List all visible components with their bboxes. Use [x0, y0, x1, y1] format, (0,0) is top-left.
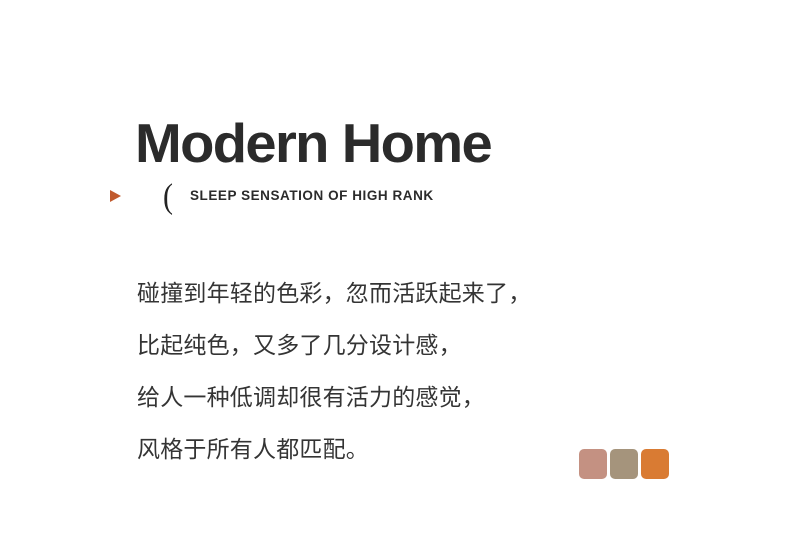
poster-canvas: Modern Home ( SLEEP SENSATION OF HIGH RA…: [0, 0, 790, 545]
body-line: 给人一种低调却很有活力的感觉，: [137, 372, 557, 424]
color-swatch[interactable]: [641, 449, 669, 479]
color-swatch[interactable]: [610, 449, 638, 479]
body-line: 碰撞到年轻的色彩，忽而活跃起来了，: [137, 268, 557, 320]
body-line: 风格于所有人都匹配。: [137, 424, 557, 476]
color-swatch[interactable]: [579, 449, 607, 479]
body-line: 比起纯色，又多了几分设计感，: [137, 320, 557, 372]
eyebrow-row: ( SLEEP SENSATION OF HIGH RANK: [110, 183, 434, 209]
open-paren-glyph: (: [163, 182, 173, 212]
color-swatch-group: [579, 449, 669, 479]
page-title: Modern Home: [135, 112, 491, 174]
subtitle-label: SLEEP SENSATION OF HIGH RANK: [190, 183, 434, 209]
body-copy: 碰撞到年轻的色彩，忽而活跃起来了， 比起纯色，又多了几分设计感， 给人一种低调却…: [137, 268, 557, 476]
play-triangle-icon: [110, 190, 121, 202]
